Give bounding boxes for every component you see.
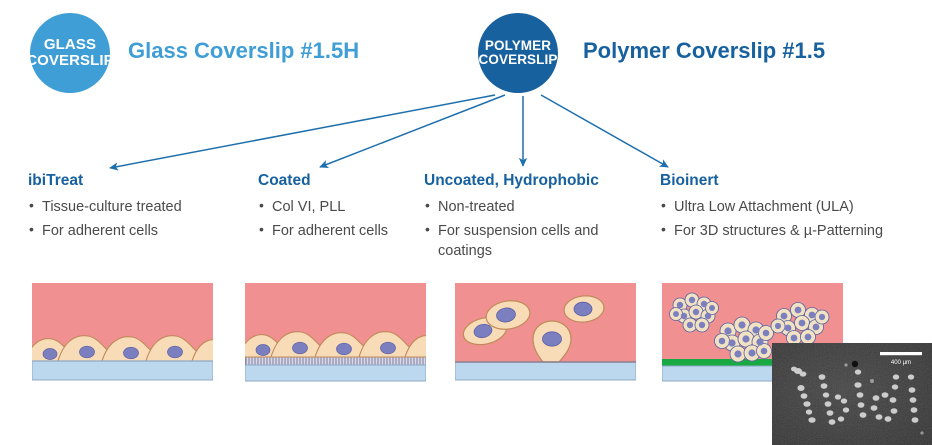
list-item: Col VI, PLL (258, 197, 390, 218)
column-uncoated: Uncoated, Hydrophobic Non-treated For su… (424, 172, 636, 265)
bullet-list-ibitreat: Tissue-culture treated For adherent cell… (28, 197, 242, 241)
coating-layer (245, 357, 426, 365)
polymer-badge-line2: COVERSLIP (479, 53, 558, 67)
glass-badge-line2: COVERSLIP (26, 53, 114, 69)
glass-coverslip-title: Glass Coverslip #1.5H (128, 38, 359, 64)
column-title-coated: Coated (258, 172, 390, 190)
diagram-uncoated (455, 283, 636, 383)
list-item: For suspension cells and coatings (424, 221, 636, 262)
arrow-to-ibitreat (110, 95, 495, 168)
list-item: For 3D structures & µ-Patterning (660, 221, 932, 242)
column-ibitreat: ibiTreat Tissue-culture treated For adhe… (28, 172, 242, 244)
polymer-coverslip-title: Polymer Coverslip #1.5 (583, 38, 825, 64)
diagram-coated (245, 283, 426, 383)
column-title-bioinert: Bioinert (660, 172, 932, 190)
column-title-ibitreat: ibiTreat (28, 172, 242, 190)
scale-bar (880, 352, 922, 355)
list-item: For adherent cells (258, 221, 390, 242)
column-title-uncoated: Uncoated, Hydrophobic (424, 172, 636, 190)
dark-debris-spot (852, 361, 858, 367)
polymer-badge-line1: POLYMER (485, 39, 551, 53)
bullet-list-uncoated: Non-treated For suspension cells and coa… (424, 197, 636, 262)
bullet-list-bioinert: Ultra Low Attachment (ULA) For 3D struct… (660, 197, 932, 241)
slide-canvas: GLASS COVERSLIP Glass Coverslip #1.5H PO… (0, 0, 932, 445)
list-item: For adherent cells (28, 221, 242, 242)
substrate-layer (455, 362, 636, 380)
glass-badge-line1: GLASS (44, 37, 96, 53)
list-item: Tissue-culture treated (28, 197, 242, 218)
column-bioinert: Bioinert Ultra Low Attachment (ULA) For … (660, 172, 932, 244)
substrate-layer (32, 361, 213, 380)
arrow-to-bioinert (541, 95, 668, 167)
diagram-ibitreat (32, 283, 213, 383)
glass-coverslip-badge: GLASS COVERSLIP (30, 13, 110, 93)
polymer-coverslip-badge: POLYMER COVERSLIP (478, 13, 558, 93)
column-coated: Coated Col VI, PLL For adherent cells (258, 172, 390, 244)
scale-bar-label: 400 µm (891, 360, 911, 366)
list-item: Non-treated (424, 197, 636, 218)
arrow-to-coated (320, 95, 505, 167)
micrograph-inset: 400 µm (772, 343, 932, 445)
substrate-layer (245, 365, 426, 381)
list-item: Ultra Low Attachment (ULA) (660, 197, 932, 218)
bullet-list-coated: Col VI, PLL For adherent cells (258, 197, 390, 241)
